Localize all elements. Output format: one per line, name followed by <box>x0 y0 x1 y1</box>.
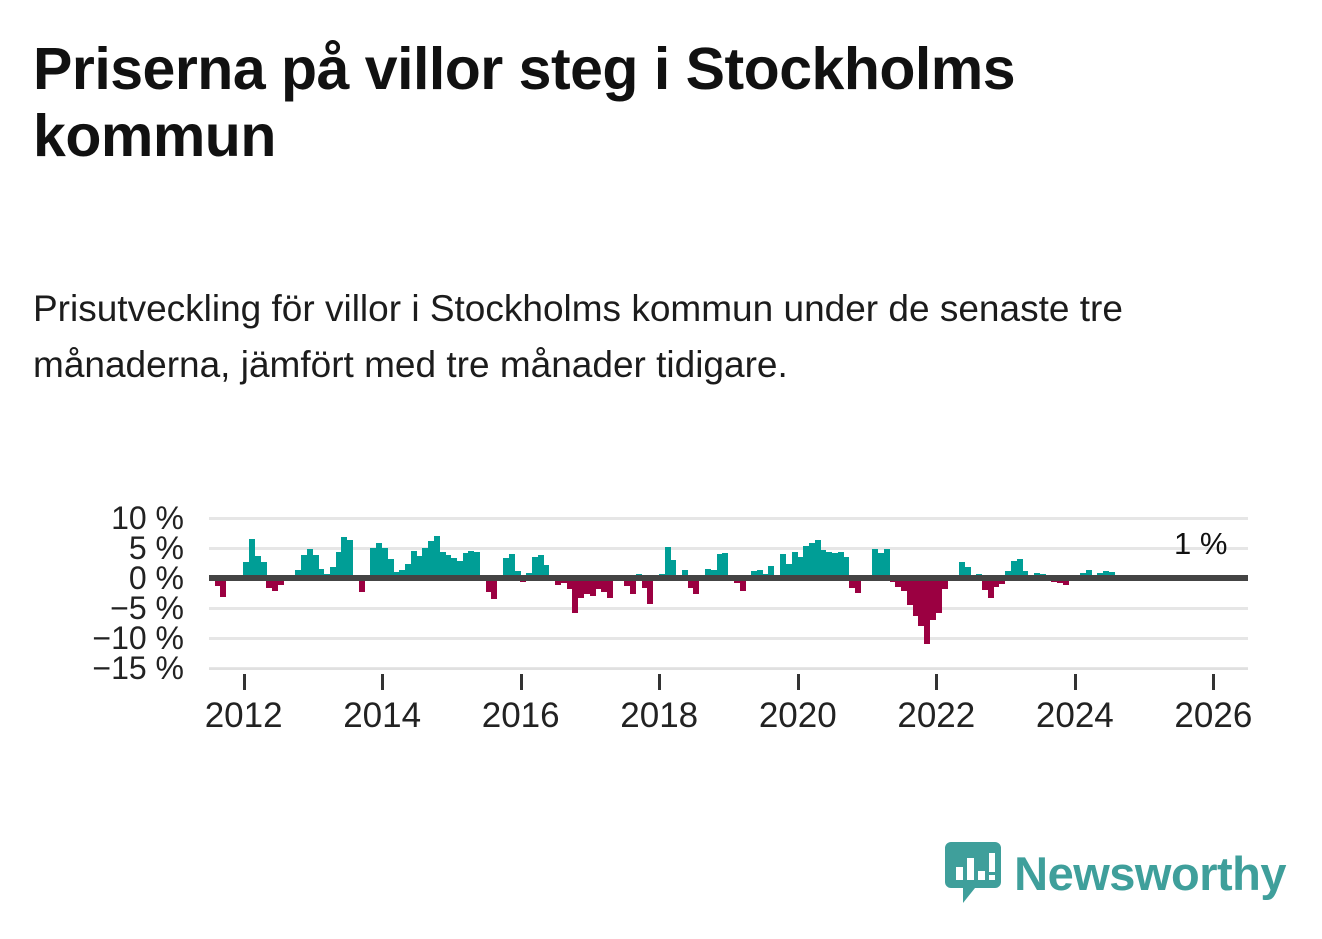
bar <box>647 578 653 604</box>
logo-bar-chart-bubble-icon <box>945 842 1001 904</box>
bar <box>607 578 613 598</box>
plot-area <box>209 518 1248 668</box>
x-axis-tick <box>243 674 246 690</box>
zero-baseline <box>209 575 1248 581</box>
page-title: Priserna på villor steg i Stockholms kom… <box>33 36 1213 171</box>
x-axis-line <box>209 668 1248 670</box>
x-axis-tick-label: 2012 <box>205 696 283 736</box>
page-subtitle: Prisutveckling för villor i Stockholms k… <box>33 281 1263 393</box>
x-axis-tick <box>658 674 661 690</box>
x-axis-tick-label: 2018 <box>620 696 698 736</box>
x-axis: 20122014201620182020202220242026 <box>209 668 1248 738</box>
bar-series <box>209 518 1248 668</box>
x-axis-tick <box>520 674 523 690</box>
x-axis-tick <box>935 674 938 690</box>
infographic-page: Priserna på villor steg i Stockholms kom… <box>0 0 1322 939</box>
x-axis-tick <box>797 674 800 690</box>
x-axis-tick-label: 2020 <box>759 696 837 736</box>
x-axis-tick-label: 2026 <box>1174 696 1252 736</box>
newsworthy-logo: Newsworthy <box>945 842 1286 904</box>
x-axis-tick-label: 2016 <box>482 696 560 736</box>
bar <box>491 578 497 599</box>
x-axis-tick <box>1074 674 1077 690</box>
logo-wordmark: Newsworthy <box>1014 850 1286 897</box>
x-axis-tick-label: 2014 <box>343 696 421 736</box>
y-axis-tick-label: −15 % <box>92 652 184 684</box>
bar <box>884 549 890 578</box>
x-axis-tick-label: 2022 <box>897 696 975 736</box>
x-axis-tick-label: 2024 <box>1036 696 1114 736</box>
x-axis-tick <box>381 674 384 690</box>
x-axis-tick <box>1212 674 1215 690</box>
bar-chart: 10 %5 %0 %−5 %−10 %−15 % 201220142016201… <box>0 500 1322 750</box>
bar <box>347 540 353 578</box>
